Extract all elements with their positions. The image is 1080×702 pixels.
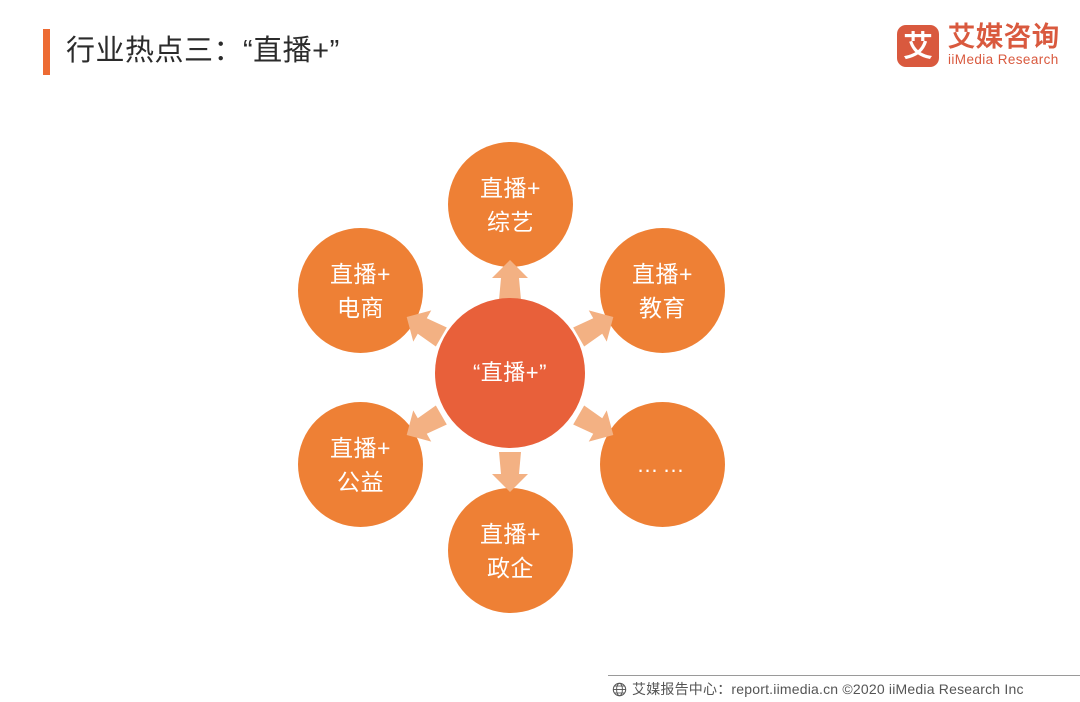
- node-line-2: 教育: [639, 291, 686, 325]
- node-line-1: 直播+: [330, 431, 391, 465]
- node-line-2: 公益: [337, 465, 384, 499]
- logo-en-name: iiMedia Research: [948, 51, 1060, 68]
- arrow-down-icon: [488, 450, 532, 494]
- node-line-2: 电商: [337, 291, 384, 325]
- footer: 艾媒报告中心：report.iimedia.cn ©2020 iiMedia R…: [612, 679, 1024, 699]
- page-header: 行业热点三：“直播+” 艾 艾媒咨询 iiMedia Research: [0, 0, 1080, 102]
- hub-spoke-diagram: 直播+ 综艺 直播+ 教育 …… 直播+ 政企 直播+ 公益 直播+ 电商 “直…: [280, 120, 780, 650]
- title-accent-bar: [43, 29, 50, 75]
- logo-cn-name: 艾媒咨询: [948, 23, 1060, 51]
- node-line-1: ……: [637, 448, 689, 482]
- node-government-enterprise[interactable]: 直播+ 政企: [448, 488, 573, 613]
- globe-icon: [612, 682, 627, 697]
- logo-mark-glyph: 艾: [897, 25, 939, 67]
- node-line-1: 直播+: [632, 257, 693, 291]
- node-variety-show[interactable]: 直播+ 综艺: [448, 142, 573, 267]
- footer-divider: [608, 675, 1080, 676]
- node-center-hub[interactable]: “直播+”: [435, 298, 585, 448]
- node-line-1: 直播+: [480, 171, 541, 205]
- logo-text: 艾媒咨询 iiMedia Research: [948, 23, 1060, 68]
- arrow-up-icon: [488, 258, 532, 302]
- brand-logo: 艾 艾媒咨询 iiMedia Research: [897, 23, 1060, 68]
- node-line-2: 综艺: [487, 205, 534, 239]
- node-line-1: 直播+: [480, 517, 541, 551]
- node-line-2: 政企: [487, 551, 534, 585]
- iimedia-logo-icon: 艾: [897, 25, 939, 67]
- node-center-label: “直播+”: [473, 356, 547, 390]
- footer-text: 艾媒报告中心：report.iimedia.cn ©2020 iiMedia R…: [632, 679, 1024, 699]
- page-title: 行业热点三：“直播+”: [66, 27, 340, 75]
- node-line-1: 直播+: [330, 257, 391, 291]
